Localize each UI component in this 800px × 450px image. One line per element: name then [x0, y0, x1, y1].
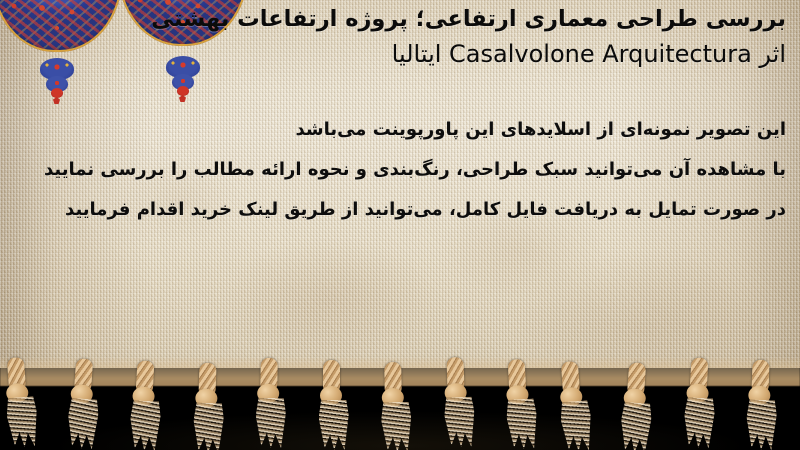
carpet-fringe-tassel — [500, 358, 549, 450]
fringe-tuft — [6, 396, 39, 448]
presentation-slide: بررسی طراحی معماری ارتفاعی؛ پروژه ارتفاع… — [0, 0, 800, 450]
carpet-fringe-tassel — [679, 357, 728, 450]
fringe-tuft — [619, 402, 652, 450]
fringe-tuft — [683, 397, 716, 449]
carpet-fringe-tassel — [188, 362, 235, 450]
carpet-fringe-tassel — [615, 362, 665, 450]
fringe-tuft — [381, 402, 412, 450]
fringe-tuft — [746, 399, 778, 450]
carpet-fringe-tassel — [376, 362, 422, 450]
medallion-drop-small — [177, 86, 189, 96]
fringe-tuft — [66, 398, 99, 450]
fringe-tuft — [559, 400, 592, 450]
fringe-tuft — [255, 398, 286, 449]
fringe-tuft — [192, 402, 224, 450]
carpet-fringe-tassel — [438, 356, 485, 449]
carpet-fringe-tassel — [251, 358, 297, 450]
fringe-tuft — [506, 398, 539, 450]
medallion-drop-small — [51, 88, 63, 98]
carpet-fringe-tassel — [553, 360, 603, 450]
carpet-fringe-tassel — [61, 358, 111, 450]
fringe-tuft — [444, 397, 476, 448]
fringe-tuft — [319, 400, 349, 450]
carpet-fringe-tassel — [0, 356, 49, 450]
fringe-tuft — [129, 400, 162, 450]
carpet-fringe-tassel — [125, 360, 174, 450]
carpet-fringe-tassel — [742, 359, 789, 450]
carpet-fringe-tassel — [315, 360, 359, 450]
carpet-weave-texture-diagonal — [0, 0, 800, 378]
